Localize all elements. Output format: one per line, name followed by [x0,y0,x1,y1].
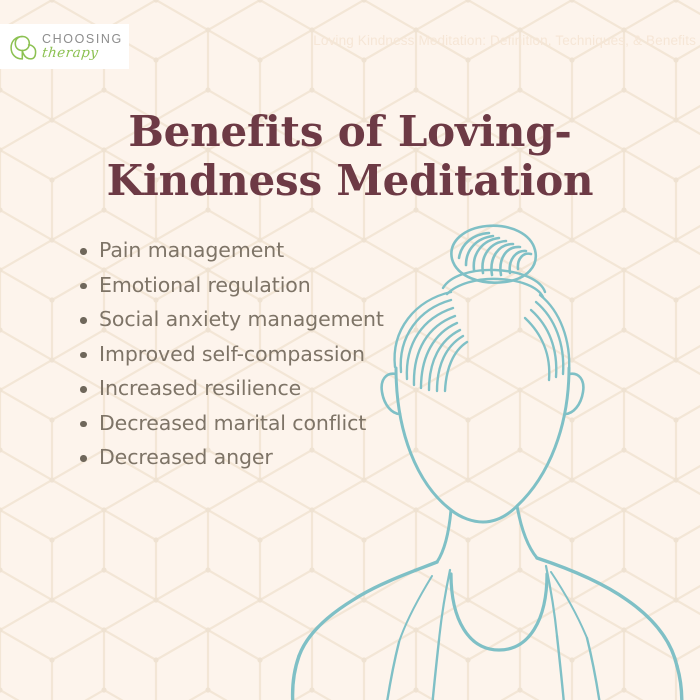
logo-wordmark: CHOOSING therapy [42,33,123,60]
logo-script-word: therapy [41,47,123,61]
brand-logo[interactable]: CHOOSING therapy [0,24,129,69]
list-item: Improved self-compassion [72,342,384,367]
page-title: Benefits of Loving- Kindness Meditation [40,108,660,205]
list-item: Decreased marital conflict [72,411,384,436]
benefits-list: Pain management Emotional regulation Soc… [72,238,384,480]
logo-primary-word: CHOOSING [42,33,123,46]
infographic-canvas: CHOOSING therapy Loving Kindness Meditat… [0,0,700,700]
list-item: Social anxiety management [72,307,384,332]
list-item: Emotional regulation [72,273,384,298]
article-title-caption: Loving Kindness Meditation: Definition, … [313,33,696,48]
list-item: Pain management [72,238,384,263]
page-title-line-2: Kindness Meditation [40,157,660,206]
list-item: Increased resilience [72,376,384,401]
leaf-logo-icon [9,33,37,61]
page-title-line-1: Benefits of Loving- [40,108,660,157]
list-item: Decreased anger [72,445,384,470]
